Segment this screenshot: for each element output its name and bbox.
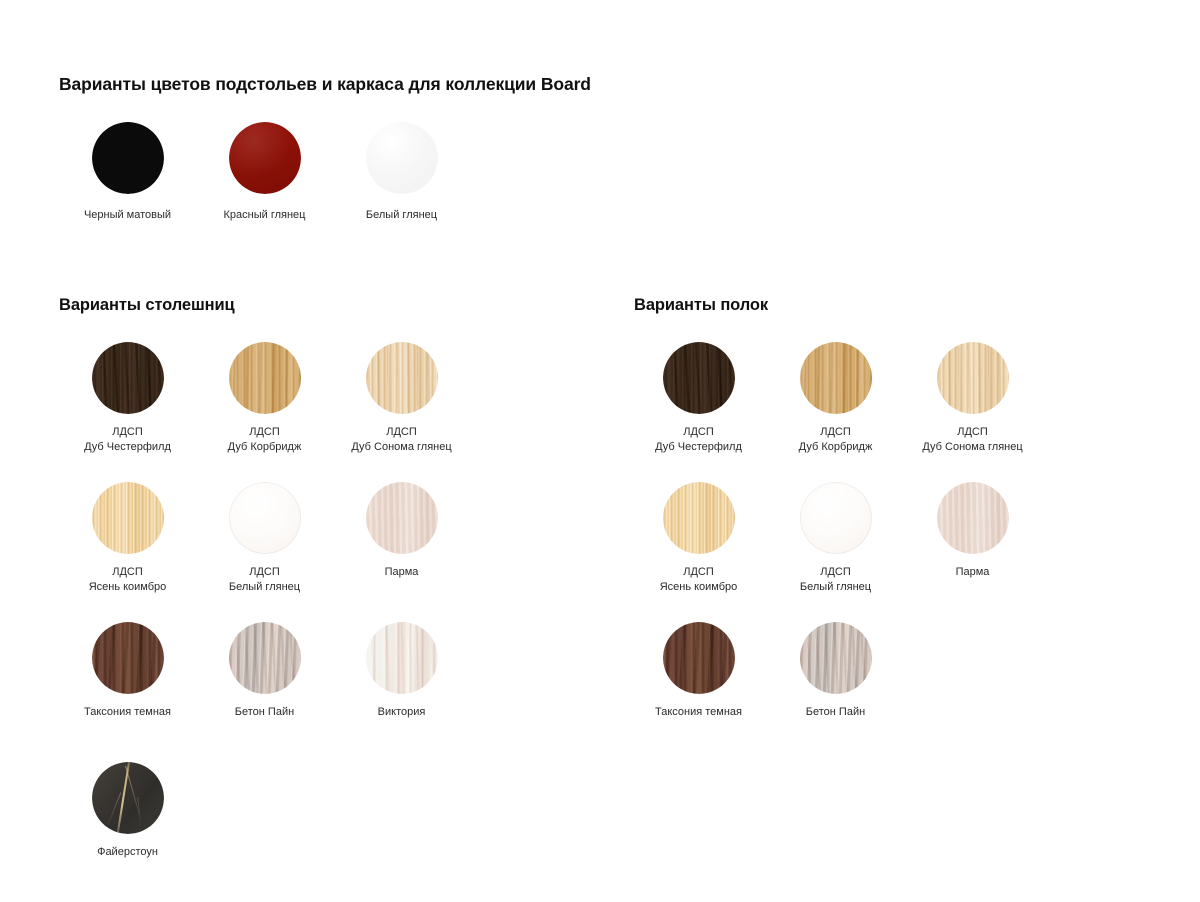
swatch-label-line-2: Белый глянец: [800, 580, 871, 595]
wood-grain-overlay: [663, 622, 735, 694]
color-swatch-лдсп-дуб-корбридж[interactable]: [229, 342, 301, 414]
section-title-tabletops: Варианты столешниц: [59, 296, 235, 315]
swatch-label-line-1: ЛДСП: [922, 425, 1022, 440]
swatch-label-line-1: Парма: [956, 565, 990, 580]
swatch-cell-парма[interactable]: Парма: [904, 482, 1041, 622]
swatch-fill: [937, 342, 1009, 414]
swatch-label-line-1: Бетон Пайн: [235, 705, 294, 720]
wood-grain-overlay: [800, 342, 872, 414]
swatch-label-line-1: ЛДСП: [89, 565, 167, 580]
swatch-fill: [366, 622, 438, 694]
swatch-label-парма: Парма: [385, 565, 419, 580]
swatch-fill: [800, 482, 872, 554]
swatch-label-line-2: Ясень коимбро: [660, 580, 738, 595]
swatch-fill: [366, 122, 438, 194]
swatch-cell-лдсп-дуб-честерфилд[interactable]: ЛДСПДуб Честерфилд: [630, 342, 767, 482]
swatch-fill: [800, 622, 872, 694]
wood-grain-overlay: [229, 622, 301, 694]
swatch-fill: [366, 482, 438, 554]
swatch-label-line-1: ЛДСП: [351, 425, 451, 440]
swatch-label-лдсп-дуб-сонома-глянец: ЛДСПДуб Сонома глянец: [922, 425, 1022, 454]
color-swatch-лдсп-дуб-сонома-глянец[interactable]: [937, 342, 1009, 414]
swatch-label-line-1: ЛДСП: [800, 565, 871, 580]
swatch-fill: [92, 122, 164, 194]
swatch-label-лдсп-дуб-честерфилд: ЛДСПДуб Честерфилд: [655, 425, 742, 454]
wood-grain-overlay: [229, 482, 301, 554]
swatch-label-лдсп-ясень-коимбро: ЛДСПЯсень коимбро: [89, 565, 167, 594]
color-swatch-файерстоун[interactable]: [92, 762, 164, 834]
wood-grain-overlay: [366, 622, 438, 694]
swatch-label-лдсп-белый-глянец: ЛДСПБелый глянец: [800, 565, 871, 594]
swatch-label-line-1: ЛДСП: [84, 425, 171, 440]
swatch-label-бетон-пайн: Бетон Пайн: [806, 705, 865, 720]
swatch-label-line-1: ЛДСП: [799, 425, 873, 440]
swatch-fill: [229, 122, 301, 194]
color-swatch-лдсп-дуб-честерфилд[interactable]: [92, 342, 164, 414]
swatch-label-line-1: Белый глянец: [366, 208, 437, 223]
wood-grain-overlay: [366, 342, 438, 414]
swatch-cell-парма[interactable]: Парма: [333, 482, 470, 622]
swatch-label-line-1: ЛДСП: [655, 425, 742, 440]
color-swatch-виктория[interactable]: [366, 622, 438, 694]
swatch-label-line-2: Ясень коимбро: [89, 580, 167, 595]
color-swatch-лдсп-дуб-сонома-глянец[interactable]: [366, 342, 438, 414]
swatch-label-line-1: Файерстоун: [97, 845, 158, 860]
wood-grain-overlay: [92, 122, 164, 194]
swatch-label-лдсп-дуб-корбридж: ЛДСПДуб Корбридж: [799, 425, 873, 454]
swatch-cell-лдсп-белый-глянец[interactable]: ЛДСПБелый глянец: [196, 482, 333, 622]
color-swatch-лдсп-белый-глянец[interactable]: [229, 482, 301, 554]
color-swatch-белый-глянец[interactable]: [366, 122, 438, 194]
color-swatch-лдсп-дуб-честерфилд[interactable]: [663, 342, 735, 414]
color-swatch-лдсп-дуб-корбридж[interactable]: [800, 342, 872, 414]
swatch-cell-бетон-пайн[interactable]: Бетон Пайн: [767, 622, 904, 762]
swatch-fill: [366, 342, 438, 414]
section-title-shelves: Варианты полок: [634, 296, 768, 315]
wood-grain-overlay: [663, 482, 735, 554]
shelf-color-grid: ЛДСПДуб ЧестерфилдЛДСПДуб КорбриджЛДСПДу…: [630, 342, 1041, 762]
swatch-label-line-1: Бетон Пайн: [806, 705, 865, 720]
color-swatch-парма[interactable]: [366, 482, 438, 554]
swatch-label-line-2: Дуб Честерфилд: [84, 440, 171, 455]
swatch-label-line-1: Таксония темная: [84, 705, 171, 720]
wood-grain-overlay: [800, 482, 872, 554]
wood-grain-overlay: [366, 482, 438, 554]
swatch-label-лдсп-ясень-коимбро: ЛДСПЯсень коимбро: [660, 565, 738, 594]
swatch-fill: [800, 342, 872, 414]
swatch-label-таксония-темная: Таксония темная: [84, 705, 171, 720]
swatch-cell-черный-матовый[interactable]: Черный матовый: [59, 122, 196, 222]
swatch-cell-белый-глянец[interactable]: Белый глянец: [333, 122, 470, 222]
color-swatch-лдсп-белый-глянец[interactable]: [800, 482, 872, 554]
swatch-label-виктория: Виктория: [378, 705, 426, 720]
swatch-label-line-1: ЛДСП: [229, 565, 300, 580]
swatch-label-line-1: Таксония темная: [655, 705, 742, 720]
tabletop-color-grid: ЛДСПДуб ЧестерфилдЛДСПДуб КорбриджЛДСПДу…: [59, 342, 470, 902]
color-swatch-таксония-темная[interactable]: [663, 622, 735, 694]
swatch-cell-лдсп-белый-глянец[interactable]: ЛДСПБелый глянец: [767, 482, 904, 622]
swatch-cell-лдсп-дуб-сонома-глянец[interactable]: ЛДСПДуб Сонома глянец: [333, 342, 470, 482]
swatch-cell-лдсп-ясень-коимбро[interactable]: ЛДСПЯсень коимбро: [59, 482, 196, 622]
swatch-fill: [92, 482, 164, 554]
swatch-fill: [92, 762, 164, 834]
swatch-fill: [92, 342, 164, 414]
color-swatch-лдсп-ясень-коимбро[interactable]: [663, 482, 735, 554]
wood-grain-overlay: [937, 482, 1009, 554]
wood-grain-overlay: [663, 342, 735, 414]
wood-grain-overlay: [92, 482, 164, 554]
wood-grain-overlay: [937, 342, 1009, 414]
swatch-label-line-1: ЛДСП: [660, 565, 738, 580]
swatch-label-лдсп-дуб-корбридж: ЛДСПДуб Корбридж: [228, 425, 302, 454]
swatch-fill: [229, 482, 301, 554]
swatch-fill: [92, 622, 164, 694]
swatch-label-line-1: Виктория: [378, 705, 426, 720]
swatch-cell-лдсп-ясень-коимбро[interactable]: ЛДСПЯсень коимбро: [630, 482, 767, 622]
swatch-label-красный-глянец: Красный глянец: [224, 208, 306, 223]
color-swatch-красный-глянец[interactable]: [229, 122, 301, 194]
swatch-label-line-1: Красный глянец: [224, 208, 306, 223]
wood-grain-overlay: [229, 122, 301, 194]
wood-grain-overlay: [92, 342, 164, 414]
color-swatch-черный-матовый[interactable]: [92, 122, 164, 194]
color-swatch-бетон-пайн[interactable]: [800, 622, 872, 694]
swatch-cell-таксония-темная[interactable]: Таксония темная: [630, 622, 767, 762]
swatch-fill: [229, 622, 301, 694]
swatch-cell-бетон-пайн[interactable]: Бетон Пайн: [196, 622, 333, 762]
swatch-label-белый-глянец: Белый глянец: [366, 208, 437, 223]
swatch-label-line-2: Дуб Сонома глянец: [922, 440, 1022, 455]
swatch-cell-лдсп-дуб-сонома-глянец[interactable]: ЛДСПДуб Сонома глянец: [904, 342, 1041, 482]
swatch-label-таксония-темная: Таксония темная: [655, 705, 742, 720]
swatch-fill: [663, 342, 735, 414]
swatch-cell-виктория[interactable]: Виктория: [333, 622, 470, 762]
swatch-label-бетон-пайн: Бетон Пайн: [235, 705, 294, 720]
swatch-label-файерстоун: Файерстоун: [97, 845, 158, 860]
swatch-fill: [663, 482, 735, 554]
swatch-label-лдсп-дуб-сонома-глянец: ЛДСПДуб Сонома глянец: [351, 425, 451, 454]
swatch-cell-лдсп-дуб-честерфилд[interactable]: ЛДСПДуб Честерфилд: [59, 342, 196, 482]
swatch-label-черный-матовый: Черный матовый: [84, 208, 171, 223]
swatch-cell-лдсп-дуб-корбридж[interactable]: ЛДСПДуб Корбридж: [767, 342, 904, 482]
swatch-fill: [229, 342, 301, 414]
wood-grain-overlay: [800, 622, 872, 694]
swatch-cell-таксония-темная[interactable]: Таксония темная: [59, 622, 196, 762]
color-swatch-таксония-темная[interactable]: [92, 622, 164, 694]
wood-grain-overlay: [366, 122, 438, 194]
swatch-cell-файерстоун[interactable]: Файерстоун: [59, 762, 196, 902]
frame-color-grid: Черный матовыйКрасный глянецБелый глянец: [59, 122, 470, 222]
wood-grain-overlay: [229, 342, 301, 414]
swatch-label-line-1: ЛДСП: [228, 425, 302, 440]
swatch-cell-лдсп-дуб-корбридж[interactable]: ЛДСПДуб Корбридж: [196, 342, 333, 482]
swatch-fill: [937, 482, 1009, 554]
swatch-label-лдсп-белый-глянец: ЛДСПБелый глянец: [229, 565, 300, 594]
color-swatch-парма[interactable]: [937, 482, 1009, 554]
color-swatch-лдсп-ясень-коимбро[interactable]: [92, 482, 164, 554]
swatch-cell-красный-глянец[interactable]: Красный глянец: [196, 122, 333, 222]
swatch-label-line-2: Дуб Корбридж: [799, 440, 873, 455]
swatch-label-лдсп-дуб-честерфилд: ЛДСПДуб Честерфилд: [84, 425, 171, 454]
swatch-label-line-2: Белый глянец: [229, 580, 300, 595]
color-options-page: Варианты цветов подстольев и каркаса для…: [0, 0, 1200, 900]
swatch-label-line-2: Дуб Сонома глянец: [351, 440, 451, 455]
swatch-fill: [663, 622, 735, 694]
wood-grain-overlay: [92, 622, 164, 694]
page-title: Варианты цветов подстольев и каркаса для…: [59, 74, 591, 95]
swatch-label-line-1: Черный матовый: [84, 208, 171, 223]
color-swatch-бетон-пайн[interactable]: [229, 622, 301, 694]
swatch-label-парма: Парма: [956, 565, 990, 580]
swatch-label-line-1: Парма: [385, 565, 419, 580]
swatch-label-line-2: Дуб Честерфилд: [655, 440, 742, 455]
swatch-label-line-2: Дуб Корбридж: [228, 440, 302, 455]
